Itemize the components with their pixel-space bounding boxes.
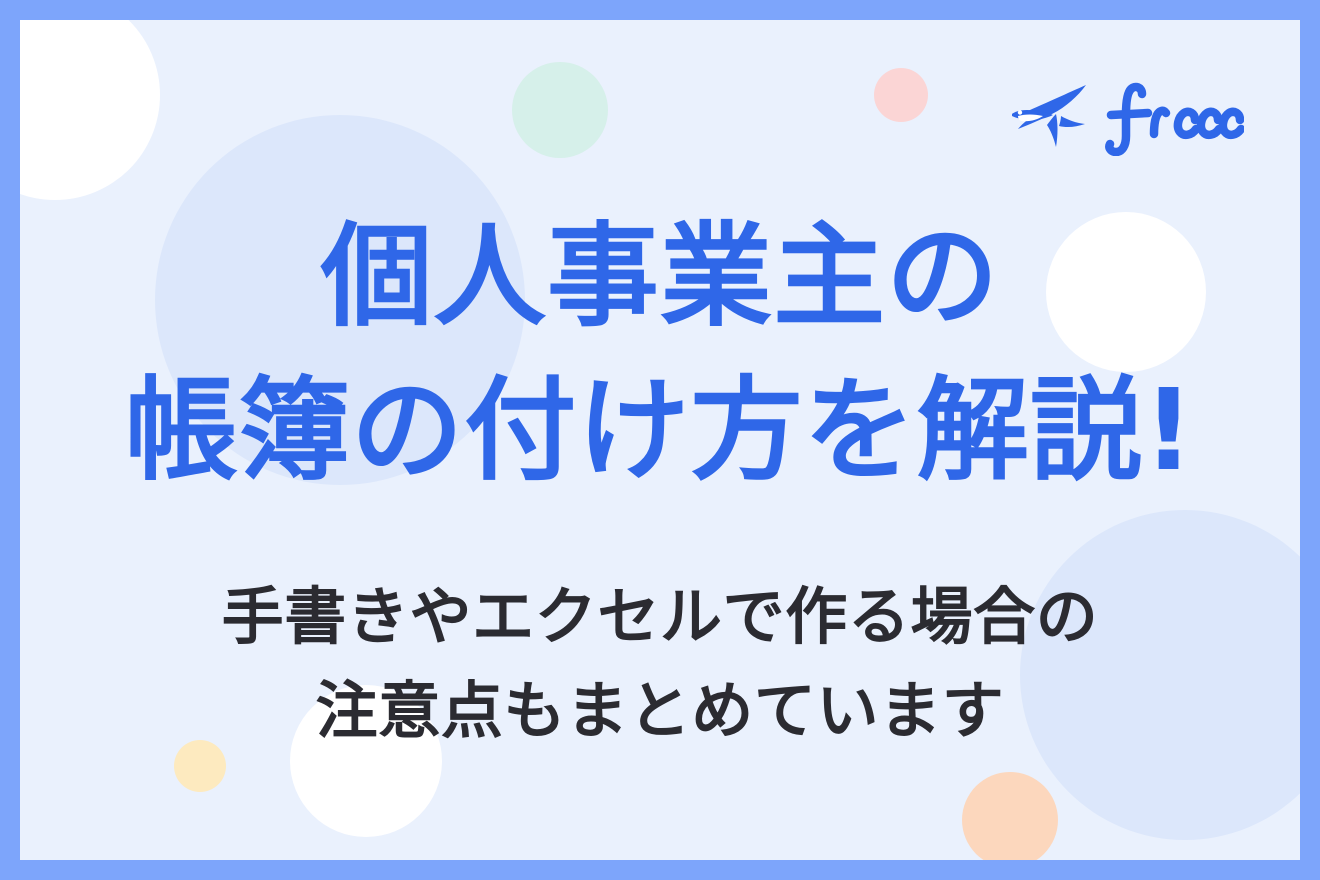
freee-wordmark [1102, 82, 1244, 161]
page-subtitle-line-1: 手書きやエクセルで作る場合の [20, 572, 1300, 663]
page-title: 個人事業主の 帳簿の付け方を解説! [20, 204, 1300, 506]
freee-swallow-bird-icon [1006, 83, 1092, 160]
circle-peach-bottom-right-icon [962, 772, 1058, 860]
cover-panel: 個人事業主の 帳簿の付け方を解説! 手書きやエクセルで作る場合の 注意点もまとめ… [20, 20, 1300, 860]
cover-image: 個人事業主の 帳簿の付け方を解説! 手書きやエクセルで作る場合の 注意点もまとめ… [0, 0, 1320, 880]
freee-logo [1006, 82, 1244, 161]
page-subtitle-line-2: 注意点もまとめています [20, 666, 1300, 757]
page-title-line-1: 個人事業主の [20, 204, 1300, 352]
page-title-line-2: 帳簿の付け方を解説! [20, 358, 1300, 506]
page-subtitle: 手書きやエクセルで作る場合の 注意点もまとめています [20, 572, 1300, 757]
